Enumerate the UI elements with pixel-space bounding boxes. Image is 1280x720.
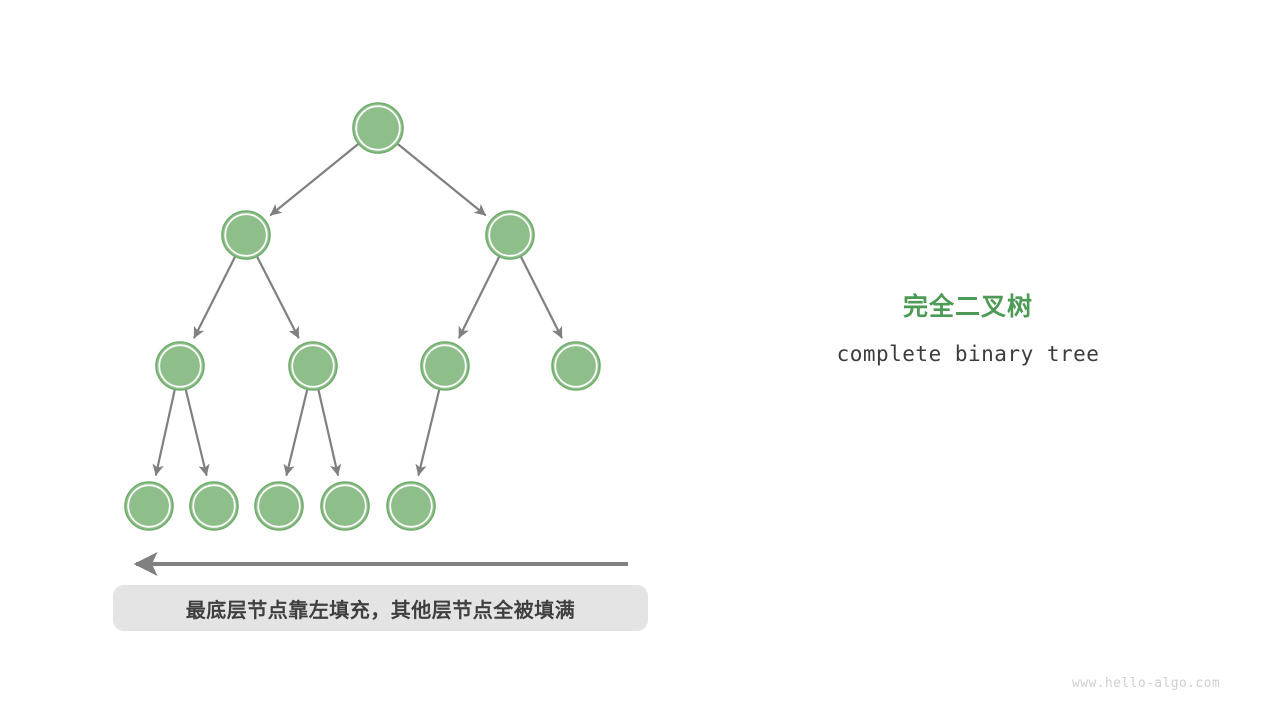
tree-edge bbox=[459, 257, 499, 337]
tree-node bbox=[421, 342, 469, 390]
tree-edge bbox=[186, 390, 207, 475]
tree-edges bbox=[156, 144, 562, 475]
tree-node bbox=[125, 482, 173, 530]
tree-node-disc bbox=[321, 482, 369, 530]
tree-node bbox=[255, 482, 303, 530]
tree-edge bbox=[156, 390, 175, 474]
tree-edge bbox=[287, 390, 308, 475]
watermark: www.hello-algo.com bbox=[1072, 676, 1220, 691]
tree-node bbox=[289, 342, 337, 390]
tree-node-disc bbox=[421, 342, 469, 390]
tree-node-disc bbox=[353, 103, 403, 153]
tree-nodes bbox=[125, 103, 600, 530]
figure-title-cn: 完全二叉树 bbox=[768, 290, 1168, 324]
tree-node bbox=[321, 482, 369, 530]
tree-node bbox=[486, 211, 534, 259]
tree-node-disc bbox=[222, 211, 270, 259]
tree-node-disc bbox=[387, 482, 435, 530]
tree-node-disc bbox=[552, 342, 600, 390]
tree-node bbox=[552, 342, 600, 390]
figure-title-en: complete binary tree bbox=[768, 341, 1168, 367]
tree-node bbox=[353, 103, 403, 153]
tree-node bbox=[156, 342, 204, 390]
complete-binary-tree-figure: 完全二叉树 complete binary tree 最底层节点靠左填充，其他层… bbox=[0, 0, 1280, 720]
tree-node-disc bbox=[156, 342, 204, 390]
figure-label-block: 完全二叉树 complete binary tree bbox=[768, 290, 1168, 367]
caption-pill: 最底层节点靠左填充，其他层节点全被填满 bbox=[113, 585, 648, 631]
tree-edge bbox=[194, 257, 234, 337]
tree-edge bbox=[419, 390, 440, 475]
tree-node bbox=[190, 482, 238, 530]
tree-node bbox=[387, 482, 435, 530]
tree-node-disc bbox=[125, 482, 173, 530]
tree-edge bbox=[257, 257, 298, 337]
tree-edge bbox=[319, 390, 338, 474]
tree-edge bbox=[521, 257, 561, 337]
tree-node bbox=[222, 211, 270, 259]
tree-node-disc bbox=[289, 342, 337, 390]
tree-node-disc bbox=[255, 482, 303, 530]
tree-edge bbox=[271, 144, 358, 214]
tree-node-disc bbox=[486, 211, 534, 259]
tree-edge bbox=[398, 144, 485, 214]
caption-text: 最底层节点靠左填充，其他层节点全被填满 bbox=[186, 594, 576, 623]
tree-node-disc bbox=[190, 482, 238, 530]
